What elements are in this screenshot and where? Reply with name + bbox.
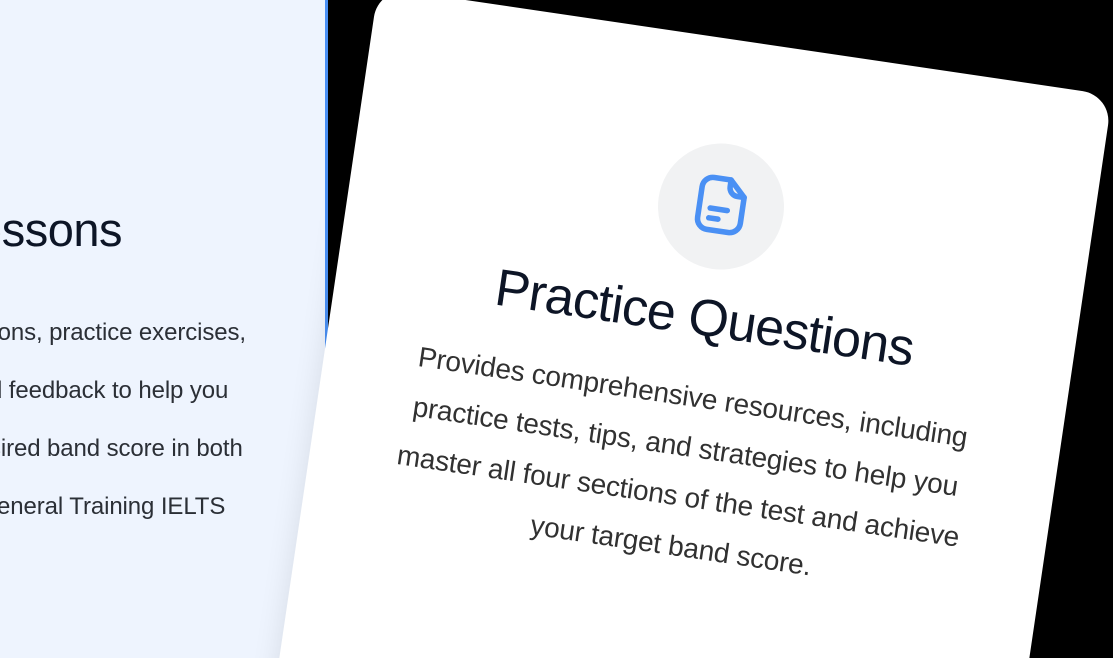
- practice-questions-card[interactable]: Practice Questions Provides comprehensiv…: [256, 0, 1113, 658]
- card-surface: Practice Questions Provides comprehensiv…: [256, 0, 1113, 658]
- card-title: Video Lessons: [0, 205, 267, 254]
- document-icon: [679, 165, 763, 249]
- card-carousel-stage: Video Lessons Offers video lessons, prac…: [0, 0, 1113, 658]
- video-lessons-card[interactable]: Video Lessons Offers video lessons, prac…: [0, 0, 328, 658]
- card-description: Offers video lessons, practice exercises…: [0, 304, 267, 594]
- icon-badge: [649, 135, 792, 278]
